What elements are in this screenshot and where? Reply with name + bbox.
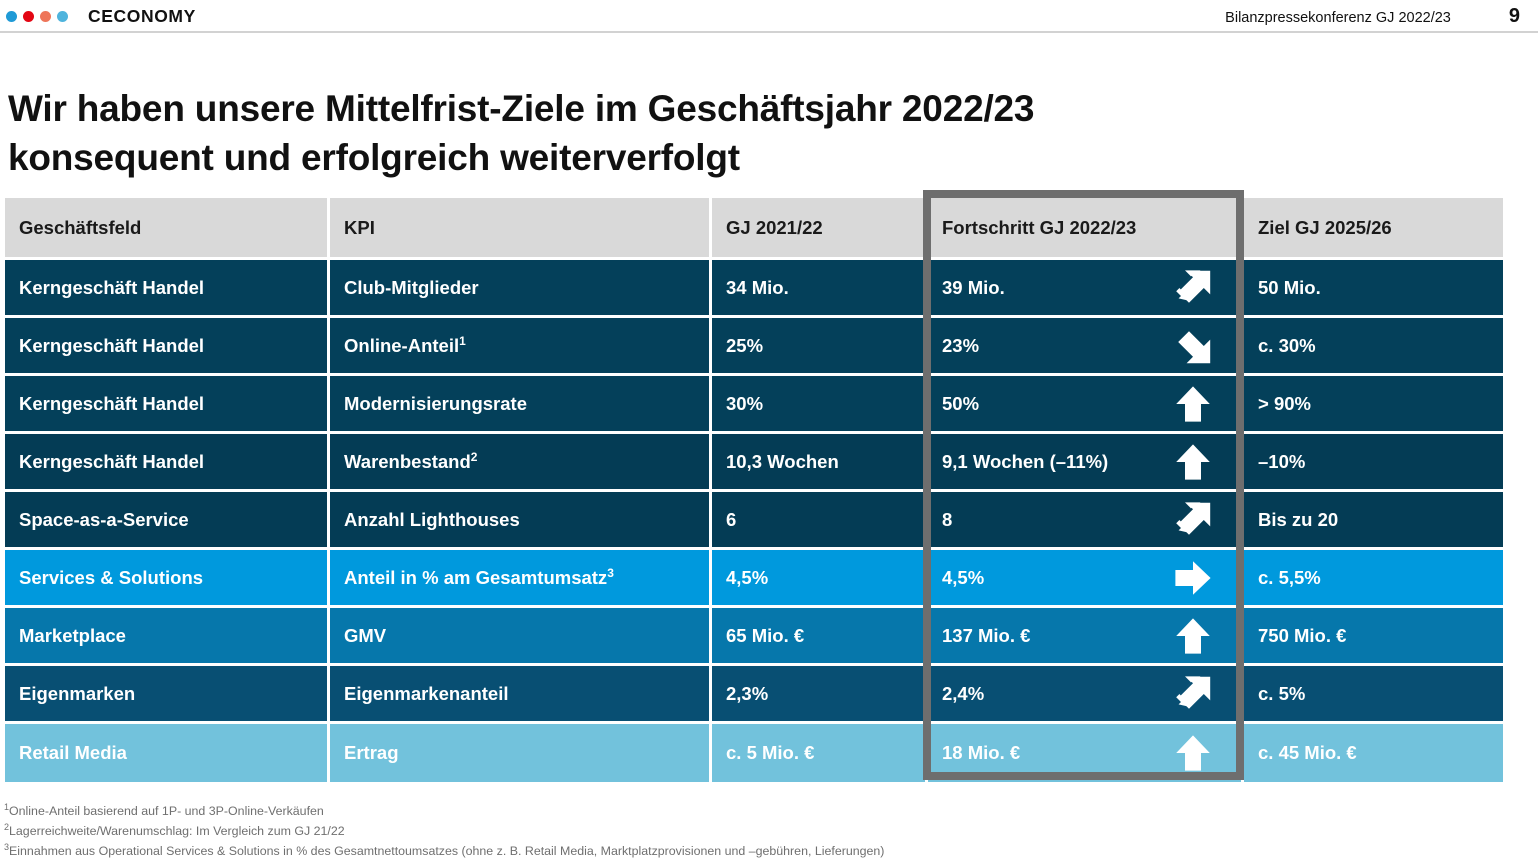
column-header-gj-2021-22: GJ 2021/22	[712, 198, 928, 260]
cell-fortschritt: 9,1 Wochen (–11%)	[928, 434, 1244, 492]
cell-fortschritt-value: 50%	[942, 393, 979, 415]
cell-gj-2021-22: 6	[712, 492, 928, 550]
cell-fortschritt: 23%	[928, 318, 1244, 376]
footnote-line: 2Lagerreichweite/Warenumschlag: Im Vergl…	[4, 819, 1504, 839]
cell-geschaeftsfeld: Kerngeschäft Handel	[5, 376, 330, 434]
cell-gj-2021-22: 65 Mio. €	[712, 608, 928, 666]
header-right: Bilanzpressekonferenz GJ 2022/23 9	[1225, 5, 1520, 28]
table-row: Space-as-a-ServiceAnzahl Lighthouses68Bi…	[5, 492, 1503, 550]
cell-fortschritt-value: 39 Mio.	[942, 277, 1005, 299]
cell-ziel: –10%	[1244, 434, 1503, 492]
cell-kpi: GMV	[330, 608, 712, 666]
footnote-marker: 2	[471, 450, 478, 464]
cell-kpi: Warenbestand2	[330, 434, 712, 492]
cell-fortschritt-value: 23%	[942, 335, 979, 357]
slide-header: CECONOMY Bilanzpressekonferenz GJ 2022/2…	[0, 0, 1538, 31]
cell-gj-2021-22: 4,5%	[712, 550, 928, 608]
cell-fortschritt: 39 Mio.	[928, 260, 1244, 318]
cell-fortschritt: 50%	[928, 376, 1244, 434]
column-header-geschaeftsfeld: Geschäftsfeld	[5, 198, 330, 260]
cell-fortschritt-value: 9,1 Wochen (–11%)	[942, 451, 1108, 473]
cell-ziel: c. 30%	[1244, 318, 1503, 376]
cell-kpi: Eigenmarkenanteil	[330, 666, 712, 724]
logo-dots-icon	[6, 11, 68, 22]
arrow-up-right-icon	[1173, 674, 1213, 714]
cell-fortschritt: 4,5%	[928, 550, 1244, 608]
cell-geschaeftsfeld: Retail Media	[5, 724, 330, 782]
header-divider	[0, 31, 1538, 33]
cell-gj-2021-22: 25%	[712, 318, 928, 376]
kpi-table: Geschäftsfeld KPI GJ 2021/22 Fortschritt…	[5, 198, 1503, 782]
arrow-up-icon	[1173, 616, 1213, 656]
cell-fortschritt-value: 2,4%	[942, 683, 984, 705]
cell-fortschritt: 2,4%	[928, 666, 1244, 724]
arrow-up-icon	[1173, 442, 1213, 482]
footnote-marker: 3	[607, 566, 614, 580]
cell-fortschritt: 137 Mio. €	[928, 608, 1244, 666]
cell-kpi: Club-Mitglieder	[330, 260, 712, 318]
table-row: Kerngeschäft HandelModernisierungsrate30…	[5, 376, 1503, 434]
logo-dot-4	[57, 11, 68, 22]
cell-gj-2021-22: 2,3%	[712, 666, 928, 724]
table-row: MarketplaceGMV65 Mio. €137 Mio. €750 Mio…	[5, 608, 1503, 666]
logo-dot-2	[23, 11, 34, 22]
cell-geschaeftsfeld: Kerngeschäft Handel	[5, 318, 330, 376]
column-header-fortschritt: Fortschritt GJ 2022/23	[928, 198, 1244, 260]
cell-geschaeftsfeld: Eigenmarken	[5, 666, 330, 724]
cell-geschaeftsfeld: Space-as-a-Service	[5, 492, 330, 550]
cell-fortschritt-value: 8	[942, 509, 952, 531]
logo-dot-1	[6, 11, 17, 22]
cell-fortschritt: 8	[928, 492, 1244, 550]
table-row: EigenmarkenEigenmarkenanteil2,3%2,4%c. 5…	[5, 666, 1503, 724]
cell-geschaeftsfeld: Kerngeschäft Handel	[5, 260, 330, 318]
cell-kpi: Online-Anteil1	[330, 318, 712, 376]
arrow-up-icon	[1173, 733, 1213, 773]
page-title-line2: konsequent und erfolgreich weiterverfolg…	[8, 133, 1408, 182]
table-row: Services & SolutionsAnteil in % am Gesam…	[5, 550, 1503, 608]
cell-gj-2021-22: 30%	[712, 376, 928, 434]
brand-name: CECONOMY	[88, 6, 196, 27]
cell-gj-2021-22: 34 Mio.	[712, 260, 928, 318]
page-title: Wir haben unsere Mittelfrist-Ziele im Ge…	[8, 84, 1408, 182]
table-row: Kerngeschäft HandelOnline-Anteil125%23%c…	[5, 318, 1503, 376]
footnote-line: 1Online-Anteil basierend auf 1P- und 3P-…	[4, 799, 1504, 819]
cell-fortschritt: 18 Mio. €	[928, 724, 1244, 782]
cell-fortschritt-value: 4,5%	[942, 567, 984, 589]
table-header-row: Geschäftsfeld KPI GJ 2021/22 Fortschritt…	[5, 198, 1503, 260]
cell-geschaeftsfeld: Services & Solutions	[5, 550, 330, 608]
page-number: 9	[1509, 5, 1520, 28]
cell-geschaeftsfeld: Marketplace	[5, 608, 330, 666]
cell-kpi: Anteil in % am Gesamtumsatz3	[330, 550, 712, 608]
cell-gj-2021-22: c. 5 Mio. €	[712, 724, 928, 782]
page-title-line1: Wir haben unsere Mittelfrist-Ziele im Ge…	[8, 84, 1408, 133]
cell-fortschritt-value: 18 Mio. €	[942, 742, 1020, 764]
arrow-up-right-icon	[1173, 268, 1213, 308]
column-header-kpi: KPI	[330, 198, 712, 260]
cell-gj-2021-22: 10,3 Wochen	[712, 434, 928, 492]
cell-geschaeftsfeld: Kerngeschäft Handel	[5, 434, 330, 492]
arrow-up-icon	[1173, 384, 1213, 424]
cell-ziel: 750 Mio. €	[1244, 608, 1503, 666]
footnotes: 1Online-Anteil basierend auf 1P- und 3P-…	[4, 799, 1504, 859]
logo-dot-3	[40, 11, 51, 22]
cell-ziel: c. 5,5%	[1244, 550, 1503, 608]
cell-kpi: Ertrag	[330, 724, 712, 782]
arrow-right-icon	[1173, 558, 1213, 598]
cell-ziel: 50 Mio.	[1244, 260, 1503, 318]
cell-ziel: > 90%	[1244, 376, 1503, 434]
arrow-up-right-icon	[1173, 500, 1213, 540]
column-header-ziel: Ziel GJ 2025/26	[1244, 198, 1503, 260]
table-row: Retail MediaErtragc. 5 Mio. €18 Mio. €c.…	[5, 724, 1503, 782]
table-row: Kerngeschäft HandelWarenbestand210,3 Woc…	[5, 434, 1503, 492]
arrow-down-right-icon	[1173, 326, 1213, 366]
cell-ziel: c. 5%	[1244, 666, 1503, 724]
header-event-label: Bilanzpressekonferenz GJ 2022/23	[1225, 10, 1451, 26]
footnote-line: 3Einnahmen aus Operational Services & So…	[4, 839, 1504, 859]
cell-kpi: Modernisierungsrate	[330, 376, 712, 434]
cell-ziel: Bis zu 20	[1244, 492, 1503, 550]
table-body: Kerngeschäft HandelClub-Mitglieder34 Mio…	[5, 260, 1503, 782]
cell-kpi: Anzahl Lighthouses	[330, 492, 712, 550]
cell-fortschritt-value: 137 Mio. €	[942, 625, 1030, 647]
brand-logo: CECONOMY	[6, 6, 196, 27]
table-row: Kerngeschäft HandelClub-Mitglieder34 Mio…	[5, 260, 1503, 318]
cell-ziel: c. 45 Mio. €	[1244, 724, 1503, 782]
footnote-marker: 1	[459, 334, 466, 348]
table-head: Geschäftsfeld KPI GJ 2021/22 Fortschritt…	[5, 198, 1503, 260]
